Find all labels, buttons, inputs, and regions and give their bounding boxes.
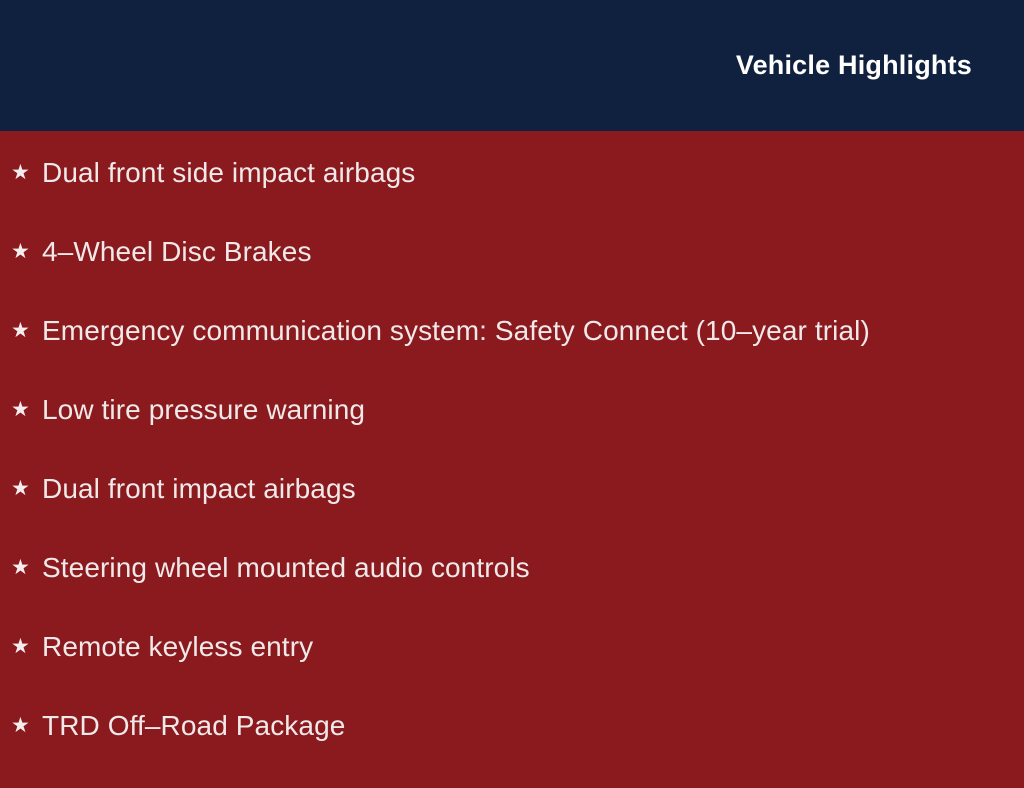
vehicle-highlights-list: ★ Dual front side impact airbags ★ 4–Whe… (0, 156, 1024, 788)
slide-header-bar: Vehicle Highlights (0, 0, 1024, 131)
highlight-label: TRD Off–Road Package (42, 709, 345, 743)
highlight-label: Dual front side impact airbags (42, 156, 415, 190)
slide-content-area: ★ Dual front side impact airbags ★ 4–Whe… (0, 131, 1024, 768)
page-title: Vehicle Highlights (736, 51, 972, 81)
star-bullet-icon: ★ (11, 630, 42, 664)
list-item: ★ Steering wheel mounted audio controls (0, 551, 1024, 630)
list-item: ★ Remote keyless entry (0, 630, 1024, 709)
star-bullet-icon: ★ (11, 156, 42, 190)
highlight-label: Steering wheel mounted audio controls (42, 551, 530, 585)
highlight-label: Remote keyless entry (42, 630, 313, 664)
list-item: ★ Low tire pressure warning (0, 393, 1024, 472)
highlight-label: Emergency communication system: Safety C… (42, 314, 870, 348)
list-item: ★ TRD Off–Road Package (0, 709, 1024, 788)
star-bullet-icon: ★ (11, 551, 42, 585)
list-item: ★ Emergency communication system: Safety… (0, 314, 1024, 393)
list-item: ★ Dual front impact airbags (0, 472, 1024, 551)
star-bullet-icon: ★ (11, 472, 42, 506)
star-bullet-icon: ★ (11, 314, 42, 348)
star-bullet-icon: ★ (11, 709, 42, 743)
highlight-label: Low tire pressure warning (42, 393, 365, 427)
vehicle-highlights-slide: Vehicle Highlights ★ Dual front side imp… (0, 0, 1024, 768)
highlight-label: 4–Wheel Disc Brakes (42, 235, 312, 269)
list-item: ★ Dual front side impact airbags (0, 156, 1024, 235)
highlight-label: Dual front impact airbags (42, 472, 356, 506)
list-item: ★ 4–Wheel Disc Brakes (0, 235, 1024, 314)
star-bullet-icon: ★ (11, 235, 42, 269)
star-bullet-icon: ★ (11, 393, 42, 427)
